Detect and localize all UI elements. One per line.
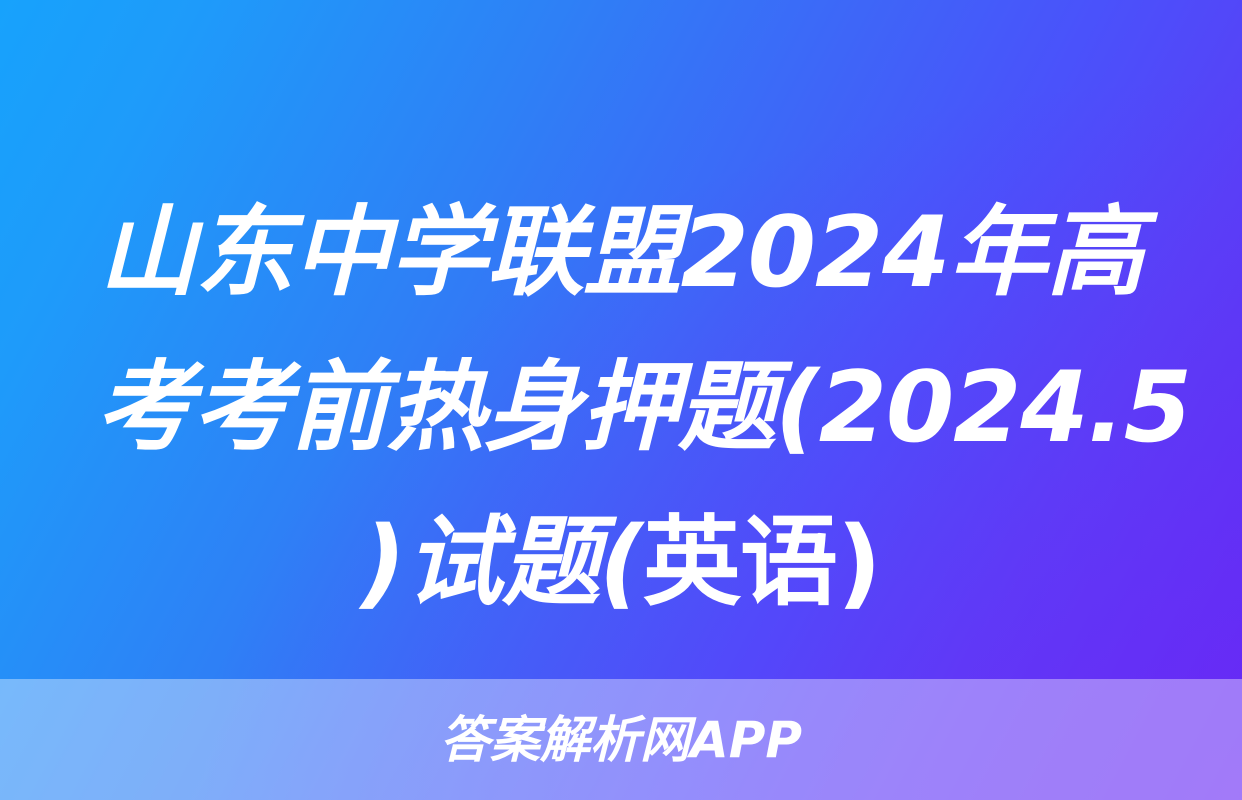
title-line-3-subject: 英语) bbox=[643, 506, 881, 620]
title-line-3-main: )试题( bbox=[361, 506, 643, 620]
title-line-3: )试题(英语) bbox=[96, 486, 1146, 641]
title-line-2: 考考前热身押题(2024.5 bbox=[96, 331, 1146, 486]
title-line-1: 山东中学联盟2024年高 bbox=[96, 176, 1146, 331]
page-title: 山东中学联盟2024年高 考考前热身押题(2024.5 )试题(英语) bbox=[0, 176, 1242, 641]
footer-brand-label: 答案解析网APP bbox=[440, 715, 802, 765]
exam-cover-card: 山东中学联盟2024年高 考考前热身押题(2024.5 )试题(英语) 答案解析… bbox=[0, 0, 1242, 800]
footer-brand-band: 答案解析网APP bbox=[0, 679, 1242, 800]
